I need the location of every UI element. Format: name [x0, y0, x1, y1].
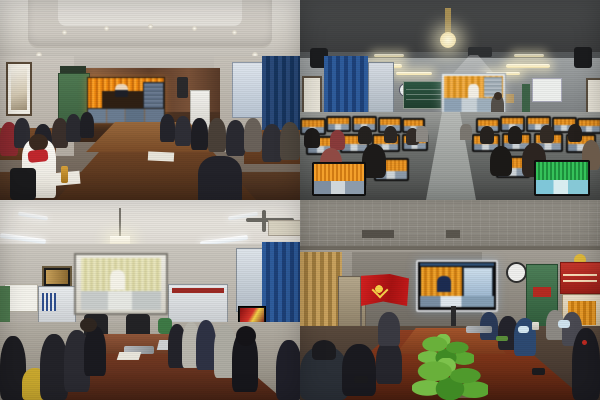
broadcast-speaker [468, 84, 478, 98]
student [540, 125, 554, 143]
flat-panel-tv [416, 260, 498, 312]
tea-cup [532, 322, 539, 330]
window [232, 62, 266, 118]
attendee [376, 340, 402, 384]
attendee-head [80, 318, 97, 332]
downlight-icon [192, 26, 197, 31]
attendee [191, 118, 208, 150]
window [368, 62, 394, 116]
pendant-rod [445, 8, 451, 34]
framed-picture [42, 266, 72, 288]
mobile-phone [354, 376, 368, 383]
student [460, 124, 472, 140]
student [330, 130, 345, 150]
attendee [66, 114, 81, 142]
fluorescent-tube-icon [374, 54, 404, 57]
attendee [378, 312, 400, 346]
hammer-and-sickle-icon [372, 282, 386, 296]
air-conditioner [268, 220, 300, 236]
red-scarf [27, 149, 48, 163]
party-badge-icon [582, 340, 587, 345]
blue-curtain [324, 56, 368, 118]
downlight-icon [62, 30, 67, 35]
chair [10, 168, 36, 200]
face-mask [518, 326, 529, 333]
wall-clock-icon [506, 262, 527, 283]
fluorescent-tube-icon [514, 54, 544, 57]
downlight-icon [104, 26, 109, 31]
attendee [80, 112, 94, 138]
mobile-phone [532, 368, 545, 375]
ceiling-fan-blade [262, 210, 266, 232]
ink-painting-left [6, 62, 32, 116]
notice-board [532, 78, 562, 102]
wall-speaker [177, 77, 188, 98]
attendee [160, 114, 175, 142]
attendee [262, 124, 282, 162]
wall-speaker-right [574, 47, 592, 68]
office-chair [126, 314, 150, 336]
instructor-head [494, 92, 502, 100]
student [480, 126, 494, 144]
lab-monitor-foreground-green [534, 160, 590, 196]
ceiling-grid [300, 200, 600, 248]
gold-curtain [300, 252, 342, 328]
chalkboard-writing [406, 86, 442, 100]
broadcast-participant-tile [463, 267, 493, 297]
broadcast-speaker [437, 276, 451, 291]
pendant-rod [119, 208, 121, 238]
attendee [226, 120, 245, 156]
student [490, 146, 512, 176]
broadcast-participant-strip [420, 296, 495, 308]
attendee [175, 116, 191, 146]
pendant-lamp [440, 32, 456, 48]
student [358, 126, 372, 144]
papers [117, 352, 142, 360]
ceiling-projector [446, 230, 460, 238]
broadcast-title-bar [420, 263, 495, 266]
downlight-icon [232, 30, 237, 35]
attendee [342, 344, 376, 396]
ceiling-inner-panel [58, 0, 242, 26]
panel-top-right [300, 0, 600, 200]
conference-microphone [466, 326, 492, 333]
attendee-head [312, 340, 336, 360]
panel-bottom-right [300, 200, 600, 400]
fluorescent-tube-icon [396, 72, 432, 75]
downlight-icon [148, 24, 153, 29]
student [508, 126, 522, 144]
student [304, 128, 320, 148]
attendee [208, 118, 226, 152]
ceiling-vent [362, 230, 394, 238]
broadcast-participant-tile [143, 82, 165, 110]
led-video-wall [87, 77, 165, 123]
fluorescent-tube-icon [506, 64, 550, 68]
broadcast-speaker [115, 84, 127, 97]
tv-stand [451, 306, 456, 328]
panel-bottom-left [0, 200, 300, 400]
broadcast-participant-strip [88, 108, 164, 123]
panel-top-left [0, 0, 300, 200]
papers [148, 151, 174, 161]
attendee-foreground [198, 156, 242, 200]
student [568, 124, 582, 142]
face-mask [558, 320, 570, 328]
broadcast-participant-strip [81, 291, 160, 310]
attendee [276, 340, 300, 400]
lab-monitor-foreground [312, 162, 366, 196]
banner-text-lines [563, 270, 597, 282]
attendee [196, 320, 216, 370]
student [384, 126, 397, 143]
name-card [496, 336, 508, 341]
attendee-foreground [572, 328, 600, 400]
attendee-head [236, 326, 256, 346]
photo-collage [0, 0, 600, 400]
tea-bottle [61, 166, 68, 183]
potted-plant-foreground [412, 358, 488, 400]
attendee [244, 118, 262, 152]
attendee-head [29, 134, 48, 151]
attendee [280, 122, 300, 160]
blue-curtain [262, 242, 300, 332]
broadcast-speaker [110, 270, 124, 290]
projection-screen [74, 253, 168, 315]
student [416, 126, 428, 142]
attendee [84, 326, 106, 376]
